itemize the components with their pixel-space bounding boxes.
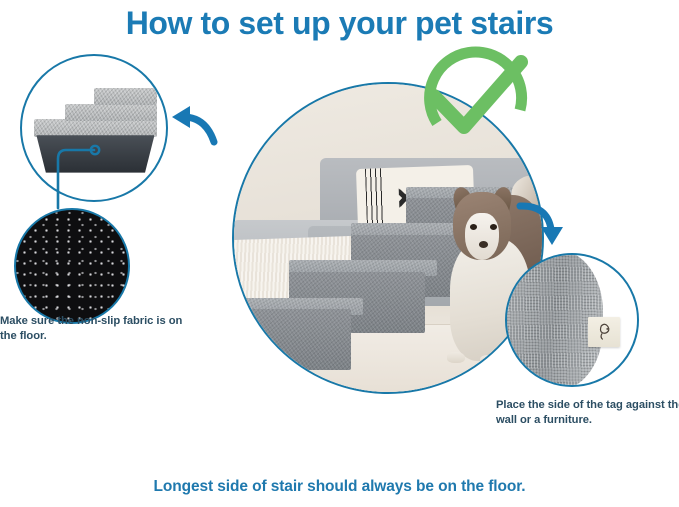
tag-detail-circle	[505, 253, 639, 387]
dog-eye-left	[470, 224, 477, 230]
non-slip-fabric-caption: Make sure the non-slip fabric is on the …	[0, 314, 200, 344]
non-slip-fabric-circle	[14, 208, 130, 324]
mini-stair-nonslip-base	[36, 135, 154, 172]
dog-muzzle	[465, 213, 499, 259]
curved-arrow-left-icon	[172, 106, 214, 142]
stairs-detail-circle	[20, 54, 168, 202]
infographic-canvas: How to set up your pet stairs	[0, 0, 679, 507]
main-photo-circle	[232, 82, 544, 394]
footer-note: Longest side of stair should always be o…	[0, 478, 679, 496]
dog-nose	[479, 241, 488, 248]
brand-logo-icon	[588, 317, 621, 347]
dog-paw-right	[480, 355, 498, 366]
brand-tag	[588, 317, 621, 347]
stair-step-1-riser	[232, 309, 351, 371]
tag-placement-caption: Place the side of the tag against the wa…	[496, 398, 679, 428]
dog-paw-left	[447, 352, 465, 363]
fabric-dot-texture-secondary	[16, 210, 128, 322]
mini-stair-tread-2	[65, 104, 157, 121]
page-title: How to set up your pet stairs	[0, 2, 679, 44]
mini-stair-tread-1	[34, 119, 158, 136]
mini-stair-tread-3	[94, 88, 157, 105]
